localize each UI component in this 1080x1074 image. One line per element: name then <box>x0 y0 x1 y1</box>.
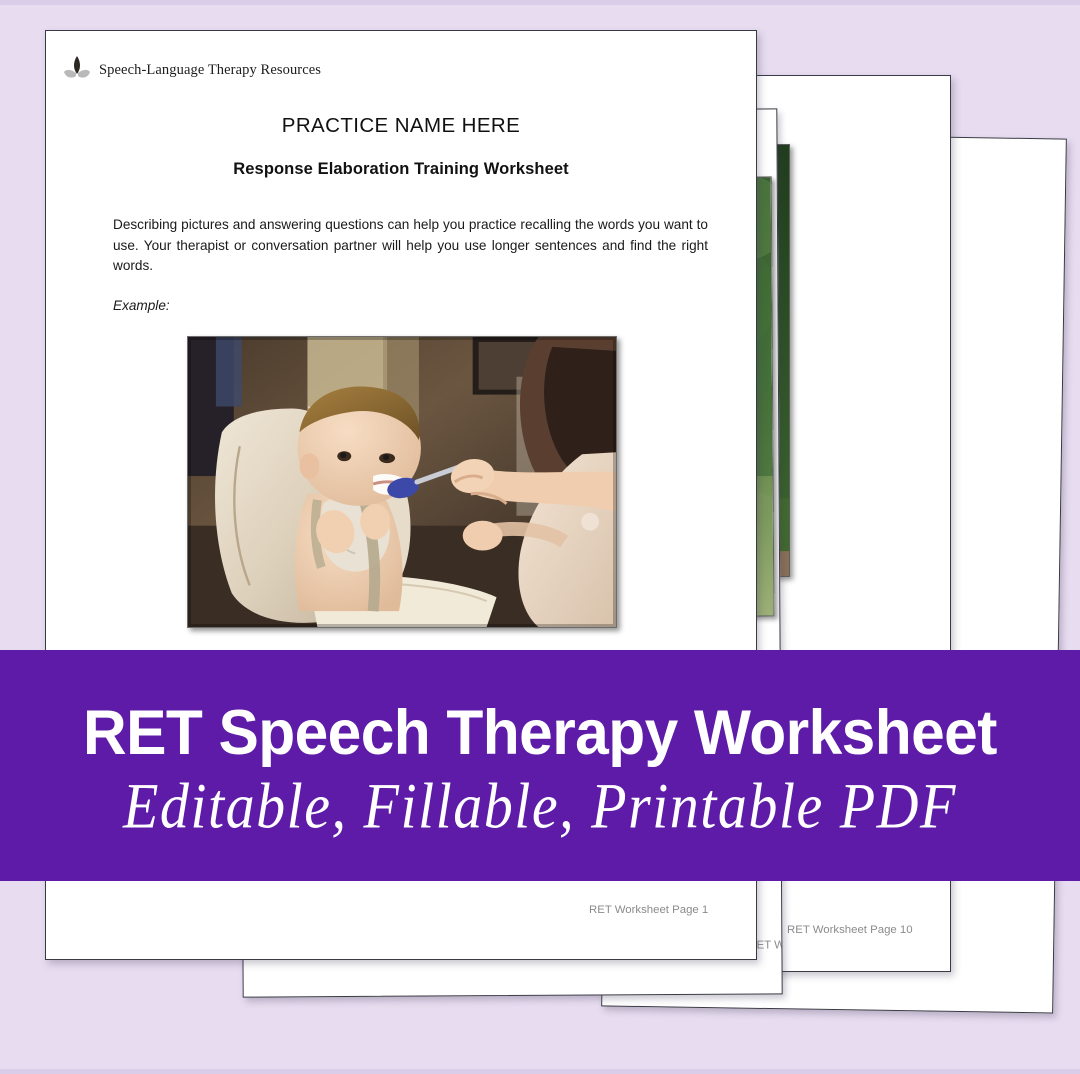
promo-banner: RET Speech Therapy Worksheet Editable, F… <box>0 650 1080 881</box>
worksheet-title: Response Elaboration Training Worksheet <box>46 160 756 179</box>
promo-title: RET Speech Therapy Worksheet <box>83 702 997 765</box>
canvas-top-edge <box>0 0 1080 5</box>
brand-header: Speech-Language Therapy Resources <box>46 55 756 85</box>
brand-name: Speech-Language Therapy Resources <box>99 62 321 79</box>
practice-name-heading: PRACTICE NAME HERE <box>46 114 756 138</box>
page-footer-label: RET Worksheet Page 1 <box>589 904 708 916</box>
promo-subtitle: Editable, Fillable, Printable PDF <box>123 774 957 839</box>
canvas-bottom-edge <box>0 1069 1080 1074</box>
page-footer-label: RET Worksheet Page 10 <box>787 924 913 936</box>
intro-paragraph: Describing pictures and answering questi… <box>113 215 708 277</box>
listing-image-canvas: RET Worksheet Page 10 <box>0 0 1080 1074</box>
leaf-plant-icon <box>64 55 90 85</box>
baby-in-high-chair-being-fed-photo <box>187 336 617 628</box>
example-label: Example: <box>113 298 756 313</box>
